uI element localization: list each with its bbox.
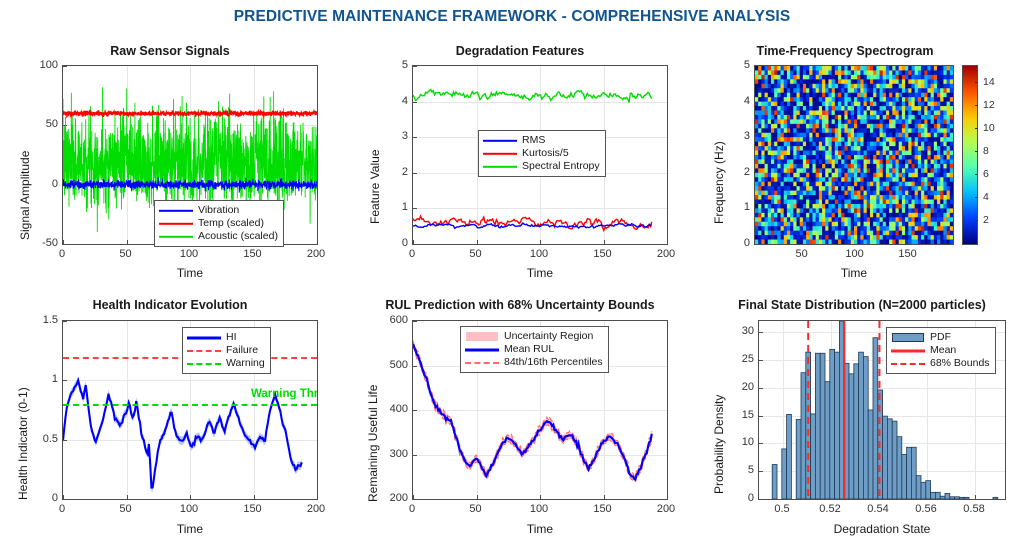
xlabel-final-state: Degradation State [758, 522, 1006, 536]
xlabel-health-indicator: Time [62, 522, 318, 536]
x-tick-label: 150 [898, 248, 916, 260]
y-tick-label: 50 [18, 118, 58, 130]
y-tick-label: 3 [368, 130, 408, 142]
y-tick-label: 4 [710, 95, 750, 107]
y-tick-label: 1.5 [18, 314, 58, 326]
histogram-bar [859, 352, 864, 499]
series-path [413, 216, 652, 230]
spectrogram-cell [950, 119, 954, 124]
histogram-bar [902, 455, 907, 500]
spectrogram-cell [950, 208, 954, 213]
y-tick-label: 1 [368, 201, 408, 213]
panel-title-final-state: Final State Distribution (N=2000 particl… [700, 298, 1024, 312]
xlabel-degradation-features: Time [412, 266, 668, 280]
spectrogram-cell [950, 111, 954, 116]
legend-label: PDF [930, 331, 951, 345]
colorbar-tick-mark [975, 82, 978, 83]
series-path [413, 89, 652, 102]
spectrogram-cell [950, 155, 954, 160]
y-tick-label: -50 [18, 237, 58, 249]
legend-row: Failure [187, 344, 265, 357]
legend-row: Vibration [159, 204, 278, 217]
y-tick-mark [413, 499, 417, 500]
legend-health-indicator[interactable]: HI Failure Warning [182, 327, 271, 374]
legend-label: Temp (scaled) [198, 217, 264, 231]
failure-threshold-annotation: Failure Threshold [317, 340, 318, 352]
spectrogram-image [755, 66, 953, 244]
spectrogram-cell [950, 182, 954, 187]
y-tick-mark [755, 244, 759, 245]
colorbar-tick-mark [975, 197, 978, 198]
y-tick-label: 300 [368, 448, 408, 460]
legend-label: Warning [226, 357, 265, 371]
legend-swatch-kurtosis [483, 148, 517, 159]
legend-final-state-distribution[interactable]: PDF Mean 68% Bounds [886, 327, 996, 374]
y-tick-label: 1 [710, 201, 750, 213]
y-tick-label: 2 [710, 166, 750, 178]
y-tick-label: 3 [710, 130, 750, 142]
y-tick-label: 0 [18, 492, 58, 504]
x-tick-label: 200 [307, 248, 325, 260]
y-tick-label: 500 [368, 359, 408, 371]
colorbar-tick-label: 12 [983, 99, 995, 111]
x-tick-label: 200 [657, 503, 675, 515]
y-tick-label: 600 [368, 314, 408, 326]
x-tick-label: 50 [119, 248, 131, 260]
legend-swatch-acoustic [159, 231, 193, 242]
x-tick-label: 100 [180, 503, 198, 515]
panel-title-rul-prediction: RUL Prediction with 68% Uncertainty Boun… [350, 298, 690, 312]
histogram-bar [782, 449, 787, 499]
spectrogram-cell [950, 191, 954, 196]
spectrogram-cell [950, 226, 954, 231]
spectrogram-cell [950, 204, 954, 209]
histogram-bar [820, 353, 825, 499]
legend-label: Spectral Entropy [522, 160, 600, 174]
legend-label: RMS [522, 134, 545, 148]
spectrogram-cell [950, 124, 954, 129]
histogram-bar [892, 421, 897, 499]
x-tick-mark [317, 240, 318, 244]
panel-health-indicator: Health Indicator Evolution Failure Thres… [0, 298, 340, 555]
x-tick-label: 50 [469, 248, 481, 260]
colorbar-tick-label: 6 [983, 168, 989, 180]
y-tick-label: 5 [710, 59, 750, 71]
y-tick-label: 5 [714, 464, 754, 476]
spectrogram-cell [950, 115, 954, 120]
y-tick-label: 100 [18, 59, 58, 71]
legend-swatch-spectral-entropy [483, 161, 517, 172]
x-tick-label: 100 [530, 503, 548, 515]
legend-label: 68% Bounds [930, 357, 990, 371]
legend-label: Acoustic (scaled) [198, 230, 278, 244]
legend-label: Kurtosis/5 [522, 147, 569, 161]
spectrogram-cell [950, 93, 954, 98]
legend-swatch-mean [891, 345, 925, 356]
histogram-bar [911, 447, 916, 499]
x-tick-label: 150 [593, 248, 611, 260]
colorbar-tick-mark [975, 128, 978, 129]
warning-threshold-annotation: Warning Threshold [251, 388, 318, 400]
legend-row: Mean [891, 344, 990, 357]
figure-title: PREDICTIVE MAINTENANCE FRAMEWORK - COMPR… [0, 8, 1024, 26]
axes-spectrogram [754, 65, 954, 245]
spectrogram-cell [950, 222, 954, 227]
x-tick-label: 0.52 [819, 503, 840, 515]
colorbar-tick-mark [975, 220, 978, 221]
histogram-bar [796, 419, 801, 499]
spectrogram-cell [950, 213, 954, 218]
y-tick-label: 200 [368, 492, 408, 504]
panel-degradation-features: Degradation Features Feature Value Time … [350, 44, 690, 290]
histogram-bar [950, 497, 955, 499]
histogram-bar [955, 497, 960, 499]
spectrogram-cell [950, 231, 954, 236]
panel-final-state-distribution: Final State Distribution (N=2000 particl… [700, 298, 1024, 555]
legend-row: 68% Bounds [891, 357, 990, 370]
spectrogram-cell [950, 84, 954, 89]
x-tick-label: 150 [593, 503, 611, 515]
xlabel-rul-prediction: Time [412, 522, 668, 536]
histogram-bar [931, 492, 936, 499]
legend-row: HI [187, 331, 265, 344]
histogram-bar [787, 414, 792, 499]
histogram-bar [940, 496, 945, 499]
y-tick-label: 4 [368, 95, 408, 107]
spectrogram-cell [950, 97, 954, 102]
x-tick-label: 0.58 [963, 503, 984, 515]
y-tick-label: 0.5 [18, 433, 58, 445]
y-tick-mark [413, 244, 417, 245]
x-tick-mark [317, 495, 318, 499]
legend-label: 84th/16th Percentiles [504, 356, 603, 370]
legend-row: 84th/16th Percentiles [465, 356, 603, 369]
spectrogram-cell [950, 159, 954, 164]
spectrogram-cell [950, 128, 954, 133]
x-tick-label: 200 [307, 503, 325, 515]
legend-label: Mean RUL [504, 343, 554, 357]
legend-raw-sensor-signals[interactable]: Vibration Temp (scaled) Acoustic (scaled… [154, 200, 284, 247]
x-tick-label: 0 [59, 248, 65, 260]
spectrogram-cell [950, 106, 954, 111]
y-tick-label: 30 [714, 325, 754, 337]
histogram-bar [935, 492, 940, 499]
legend-row: Uncertainty Region [465, 330, 603, 343]
legend-row: Warning [187, 357, 265, 370]
colorbar-tick-label: 8 [983, 145, 989, 157]
legend-label: HI [226, 331, 237, 345]
x-tick-label: 150 [243, 503, 261, 515]
histogram-bar [811, 414, 816, 499]
histogram-bar [825, 382, 830, 499]
y-tick-label: 400 [368, 403, 408, 415]
y-tick-label: 20 [714, 381, 754, 393]
histogram-bar [801, 373, 806, 499]
y-tick-label: 2 [368, 166, 408, 178]
x-tick-label: 100 [530, 248, 548, 260]
histogram-bar [873, 338, 878, 499]
histogram-bar [883, 416, 888, 499]
colorbar-tick-label: 2 [983, 214, 989, 226]
histogram-bar [835, 352, 840, 499]
legend-swatch-percentiles [465, 357, 499, 368]
y-tick-mark [63, 244, 67, 245]
histogram-bar [863, 357, 868, 499]
y-tick-label: 0 [714, 492, 754, 504]
spectrogram-cell [950, 88, 954, 93]
panel-raw-sensor-signals: Raw Sensor Signals Signal Amplitude Time… [0, 44, 340, 290]
legend-label: Mean [930, 344, 956, 358]
x-tick-label: 0.5 [774, 503, 789, 515]
legend-swatch-rms [483, 135, 517, 146]
y-tick-label: 5 [368, 59, 408, 71]
colorbar-tick-label: 4 [983, 191, 989, 203]
histogram-bar [897, 437, 902, 499]
legend-label: Failure [226, 344, 258, 358]
histogram-bar [868, 410, 873, 499]
spectrogram-cell [950, 195, 954, 200]
x-tick-mark [667, 240, 668, 244]
xlabel-raw-sensor-signals: Time [62, 266, 318, 280]
legend-swatch-hi [187, 332, 221, 343]
warning-threshold-line [63, 404, 317, 406]
legend-swatch-warning [187, 358, 221, 369]
x-tick-label: 0 [409, 503, 415, 515]
x-tick-label: 150 [243, 248, 261, 260]
legend-row: PDF [891, 331, 990, 344]
spectrogram-cell [950, 235, 954, 240]
spectrogram-cell [950, 164, 954, 169]
figure-root: PREDICTIVE MAINTENANCE FRAMEWORK - COMPR… [0, 0, 1024, 555]
legend-swatch-bounds [891, 358, 925, 369]
colorbar-spectrogram [962, 65, 978, 245]
xlabel-spectrogram: Time [754, 266, 954, 280]
spectrogram-cell [950, 186, 954, 191]
legend-row: Kurtosis/5 [483, 147, 600, 160]
histogram-bar [830, 349, 835, 499]
x-tick-label: 50 [119, 503, 131, 515]
spectrogram-cell [950, 102, 954, 107]
colorbar-tick-mark [975, 174, 978, 175]
colorbar-tick-mark [975, 151, 978, 152]
x-tick-label: 50 [469, 503, 481, 515]
histogram-bar [964, 497, 969, 499]
spectrogram-cell [950, 177, 954, 182]
spectrogram-cell [950, 200, 954, 205]
x-tick-label: 50 [796, 248, 808, 260]
histogram-bar [926, 481, 931, 499]
histogram-bar [993, 497, 998, 499]
colorbar-tick-mark [975, 105, 978, 106]
spectrogram-cell [950, 66, 954, 71]
panel-title-spectrogram: Time-Frequency Spectrogram [700, 44, 990, 58]
y-tick-label: 1 [18, 373, 58, 385]
y-tick-label: 10 [714, 436, 754, 448]
legend-swatch-pdf [891, 332, 925, 343]
histogram-bar [772, 465, 777, 499]
spectrogram-cell [950, 240, 954, 245]
legend-swatch-mean-rul [465, 344, 499, 355]
spectrogram-cell [950, 217, 954, 222]
y-tick-label: 0 [18, 178, 58, 190]
legend-rul-prediction[interactable]: Uncertainty Region Mean RUL 84th/16th Pe… [460, 326, 609, 373]
histogram-bar [907, 447, 912, 499]
histogram-bar [815, 353, 820, 499]
spectrogram-cell [950, 75, 954, 80]
y-tick-label: 0 [710, 237, 750, 249]
spectrogram-cell [950, 142, 954, 147]
y-tick-label: 25 [714, 353, 754, 365]
panel-rul-prediction: RUL Prediction with 68% Uncertainty Boun… [350, 298, 690, 555]
panel-title-degradation-features: Degradation Features [350, 44, 690, 58]
legend-degradation-features[interactable]: RMS Kurtosis/5 Spectral Entropy [478, 130, 606, 177]
x-tick-label: 100 [845, 248, 863, 260]
legend-row: Temp (scaled) [159, 217, 278, 230]
legend-swatch-uncertainty [465, 331, 499, 342]
y-tick-mark [63, 499, 67, 500]
colorbar-tick-label: 14 [983, 76, 995, 88]
x-tick-mark [667, 495, 668, 499]
histogram-bar [959, 497, 964, 499]
spectrogram-cell [950, 137, 954, 142]
x-tick-label: 0.56 [915, 503, 936, 515]
legend-row: RMS [483, 134, 600, 147]
x-tick-label: 200 [657, 248, 675, 260]
legend-row: Mean RUL [465, 343, 603, 356]
spectrogram-cell [950, 168, 954, 173]
x-tick-label: 100 [180, 248, 198, 260]
spectrogram-cell [950, 173, 954, 178]
histogram-bar [849, 374, 854, 499]
series-path [63, 109, 317, 117]
histogram-bar [854, 364, 859, 499]
legend-swatch-vibration [159, 205, 193, 216]
legend-label: Uncertainty Region [504, 330, 593, 344]
spectrogram-cell [950, 70, 954, 75]
y-tick-label: 0 [368, 237, 408, 249]
x-tick-label: 0.54 [867, 503, 888, 515]
colorbar-tick-label: 10 [983, 122, 995, 134]
x-tick-label: 0 [59, 503, 65, 515]
series-path [413, 223, 652, 228]
histogram-bar [921, 482, 926, 499]
legend-row: Spectral Entropy [483, 160, 600, 173]
y-tick-label: 15 [714, 409, 754, 421]
spectrogram-cell [950, 146, 954, 151]
spectrogram-cell [950, 151, 954, 156]
legend-label: Vibration [198, 204, 239, 218]
panel-time-frequency-spectrogram: Time-Frequency Spectrogram Frequency (Hz… [700, 44, 1024, 290]
spectrogram-cell [950, 133, 954, 138]
panel-title-raw-sensor-signals: Raw Sensor Signals [0, 44, 340, 58]
panel-title-health-indicator: Health Indicator Evolution [0, 298, 340, 312]
histogram-bar [945, 493, 950, 499]
x-tick-label: 0 [409, 248, 415, 260]
histogram-bar [887, 419, 892, 499]
ylabel-raw-sensor-signals: Signal Amplitude [18, 151, 32, 240]
histogram-bar [916, 476, 921, 499]
spectrogram-cell [950, 79, 954, 84]
legend-swatch-temp [159, 218, 193, 229]
legend-row: Acoustic (scaled) [159, 230, 278, 243]
legend-swatch-failure [187, 345, 221, 356]
y-tick-mark [759, 499, 763, 500]
